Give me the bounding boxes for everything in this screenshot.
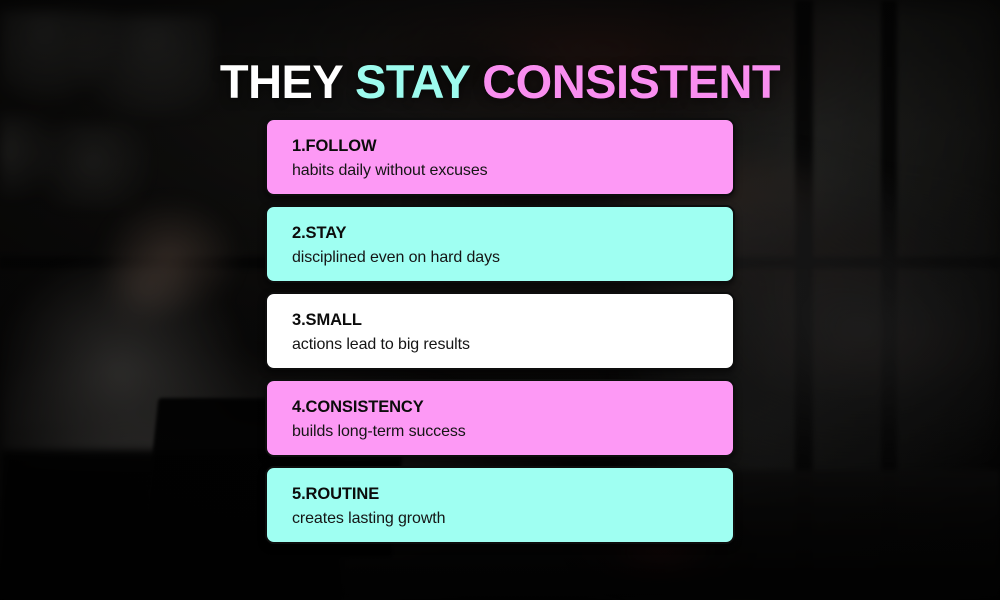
slide-content: THEY STAY CONSISTENT 1.FOLLOW habits dai… [0,0,1000,600]
slide-canvas: THEY STAY CONSISTENT 1.FOLLOW habits dai… [0,0,1000,600]
card-subtitle: habits daily without excuses [292,161,733,180]
list-item[interactable]: 3.SMALL actions lead to big results [265,292,735,370]
title-segment-stay: STAY [355,55,482,108]
card-heading: 1.FOLLOW [292,137,733,157]
card-subtitle: creates lasting growth [292,509,733,528]
card-heading: 5.ROUTINE [292,485,733,505]
list-item[interactable]: 5.ROUTINE creates lasting growth [265,466,735,544]
page-title: THEY STAY CONSISTENT [0,58,1000,105]
card-subtitle: disciplined even on hard days [292,248,733,267]
title-segment-they: THEY [220,55,355,108]
card-heading: 3.SMALL [292,311,733,331]
list-item[interactable]: 1.FOLLOW habits daily without excuses [265,118,735,196]
card-list: 1.FOLLOW habits daily without excuses 2.… [265,118,735,553]
card-heading: 2.STAY [292,224,733,244]
card-heading: 4.CONSISTENCY [292,398,733,418]
card-subtitle: actions lead to big results [292,335,733,354]
list-item[interactable]: 4.CONSISTENCY builds long-term success [265,379,735,457]
card-subtitle: builds long-term success [292,422,733,441]
list-item[interactable]: 2.STAY disciplined even on hard days [265,205,735,283]
title-segment-consistent: CONSISTENT [482,55,780,108]
